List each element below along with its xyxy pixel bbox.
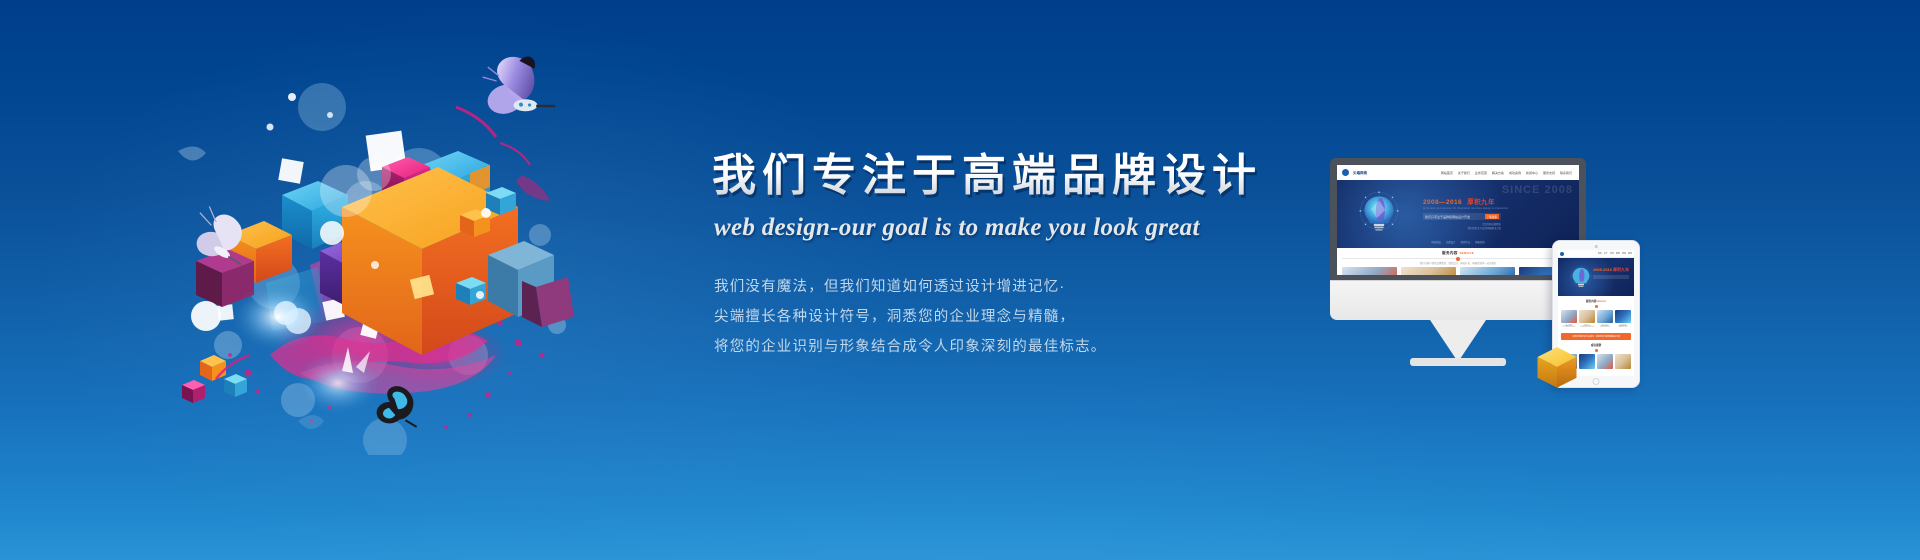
tablet-services-grid: 商业策划 BUSINESS PLAN 平面设计 GRAPHIC DESIGN 网… [1558,309,1634,330]
hero-tag-3: 网络营销 [1475,240,1485,244]
hero-years: 2008—2016 厚积九年 [1423,196,1501,206]
service-thumb-0 [1342,267,1397,275]
tablet-service-sub-1: GRAPHIC DESIGN [1579,327,1595,329]
tablet-nav-item-5: 联系 [1628,252,1632,255]
tablet-service-image-0 [1561,310,1577,323]
services-divider [1342,258,1574,259]
tablet-case-image-3 [1615,354,1631,369]
site-nav-item-6: 服务支持 [1543,171,1555,175]
tablet-service-cell-1: 平面设计 GRAPHIC DESIGN [1579,310,1595,329]
site-nav-item-7: 联系我们 [1560,171,1572,175]
tablet-nav-item-1: 关于 [1604,252,1608,255]
tablet-nav-item-2: 业务 [1610,252,1614,255]
tablet-service-image-2 [1597,310,1613,323]
site-nav-item-1: 关于我们 [1458,171,1470,175]
tablet-hero-years-range: 2008-2016 [1593,267,1612,272]
monitor-screen: 尖端网络 网站首页 关于我们 业务范围 解决方案 成功案例 新闻中心 服务支持 … [1337,165,1579,275]
hero-years-range: 2008—2016 [1423,199,1462,206]
hero-banner: 我们专注于高端品牌设计 web design-our goal is to ma… [0,0,1920,560]
services-title-en: SERVICE [1460,251,1474,255]
hero-tag-row: 网站建设 品牌设计 视觉传达 网络营销 [1431,240,1484,244]
tablet-service-cell-0: 商业策划 BUSINESS PLAN [1561,310,1577,329]
hero-tag-1: 品牌设计 [1446,240,1456,244]
hero-copy: 2008—2016 厚积九年 profession and passion fo… [1423,196,1501,231]
tablet-service-cell-3: 网络营销 MARKETING [1615,310,1631,329]
tablet-nav-links: 首页 关于 业务 案例 新闻 联系 [1598,252,1632,255]
site-nav-item-2: 业务范围 [1475,171,1487,175]
hero-cta-button: 了解更多 [1485,214,1499,219]
page-subtitle: web design-our goal is to make you look … [714,214,1332,242]
butterfly-purple [476,55,555,126]
desktop-monitor-mockup: 尖端网络 网站首页 关于我们 业务范围 解决方案 成功案例 新闻中心 服务支持 … [1330,158,1586,320]
floating-orange-cube-icon [1536,343,1578,389]
tablet-cases-dot [1595,349,1598,352]
tablet-services-dot [1595,305,1598,308]
tablet-hero-text: 2008-2016厚积九年 [1593,267,1629,279]
tablet-hero-years-accent: 厚积九年 [1613,267,1629,272]
description-line-2: 尖端擅长各种设计符号，洞悉您的企业理念与精髓， [714,302,1332,332]
hero-meta: 让您的网站更精彩 我们提供全方位的网络解决方案 [1423,223,1501,231]
hero-sub-en: profession and passion for illustration … [1423,207,1501,210]
page-title: 我们专注于高端品牌设计 [712,152,1332,200]
tablet-lightbulb-network-icon [1566,263,1596,293]
tablet-navbar: 首页 关于 业务 案例 新闻 联系 [1558,250,1634,258]
tablet-service-image-3 [1615,310,1631,323]
tablet-service-cell-2: 网站建设 WEB DESIGN [1597,310,1613,329]
mock-site-navbar: 尖端网络 网站首页 关于我们 业务范围 解决方案 成功案例 新闻中心 服务支持 … [1337,165,1579,180]
tablet-case-image-2 [1597,354,1613,369]
tablet-home-button[interactable] [1593,378,1600,385]
abstract-artwork-svg [170,55,590,455]
tablet-cta-banner: 立即咨询我们的专业顾问 · 获取您的专属网络解决方案 [1561,333,1631,340]
description-line-1: 我们没有魔法，但我们知道如何透过设计增进记忆· [714,272,1332,302]
tablet-hero: 2008-2016厚积九年 [1558,258,1634,296]
hero-tag-0: 网站建设 [1431,240,1441,244]
services-title: 服务内容SERVICE [1342,251,1574,256]
monitor-stand-foot [1410,358,1506,366]
tablet-service-sub-3: MARKETING [1615,327,1631,329]
tablet-service-sub-0: BUSINESS PLAN [1561,327,1577,329]
mock-site-hero: SINCE 2008 [1337,180,1579,248]
site-nav-item-3: 解决方案 [1492,171,1504,175]
tablet-camera-icon [1595,245,1598,248]
abstract-artwork [170,55,590,455]
mock-site-services: 服务内容SERVICE 我们为客户提供品牌策划、视觉设计、网站开发、网络营销等一… [1337,248,1579,275]
tablet-nav-item-4: 新闻 [1622,252,1626,255]
hero-text-block: 我们专注于高端品牌设计 web design-our goal is to ma… [712,152,1332,362]
tablet-service-sub-2: WEB DESIGN [1597,327,1613,329]
hero-description: 我们没有魔法，但我们知道如何透过设计增进记忆· 尖端擅长各种设计符号，洞悉您的企… [714,272,1332,362]
services-thumb-row [1342,267,1574,275]
wedge-plum-right [522,277,574,327]
hero-meta-1: 我们提供全方位的网络解决方案 [1423,227,1501,231]
description-line-3: 将您的企业识别与形象结合成令人印象深刻的最佳标志。 [714,332,1332,362]
lightbulb-network-icon [1353,188,1405,240]
site-nav-links: 网站首页 关于我们 业务范围 解决方案 成功案例 新闻中心 服务支持 联系我们 [1441,171,1574,175]
hero-cta-bar: 我们只专注于品牌和网站设计开发 了解更多 [1423,213,1501,220]
tablet-hero-years: 2008-2016厚积九年 [1593,267,1629,273]
tablet-logo-icon [1560,252,1564,256]
tablet-nav-item-0: 首页 [1598,252,1602,255]
tablet-service-image-1 [1579,310,1595,323]
tablet-services-title: 服务内容SERVICE [1558,296,1634,303]
service-thumb-2 [1460,267,1515,275]
hero-cta-text: 我们只专注于品牌和网站设计开发 [1425,215,1470,219]
monitor-chin [1330,280,1586,320]
site-nav-item-5: 新闻中心 [1526,171,1538,175]
device-mockups: 尖端网络 网站首页 关于我们 业务范围 解决方案 成功案例 新闻中心 服务支持 … [1330,158,1650,388]
tablet-case-image-1 [1579,354,1595,369]
monitor-stand-neck [1430,320,1486,362]
hero-tag-2: 视觉传达 [1461,240,1471,244]
site-logo-text: 尖端网络 [1353,170,1367,175]
services-title-cn: 服务内容 [1442,251,1458,255]
site-logo-icon [1342,169,1349,176]
site-nav-item-0: 网站首页 [1441,171,1453,175]
micro-cubes-bottom [182,355,247,403]
site-nav-item-4: 成功案例 [1509,171,1521,175]
hero-watermark: SINCE 2008 [1502,184,1573,196]
services-description: 我们为客户提供品牌策划、视觉设计、网站开发、网络营销等一站式服务 [1342,261,1574,265]
tablet-nav-item-3: 案例 [1616,252,1620,255]
tablet-hero-bar [1593,275,1629,279]
tablet-services-title-en: SERVICE [1596,301,1606,303]
service-thumb-1 [1401,267,1456,275]
tablet-services-title-cn: 服务内容 [1586,300,1596,303]
monitor-bezel: 尖端网络 网站首页 关于我们 业务范围 解决方案 成功案例 新闻中心 服务支持 … [1330,158,1586,280]
hero-years-accent: 厚积九年 [1467,199,1495,206]
